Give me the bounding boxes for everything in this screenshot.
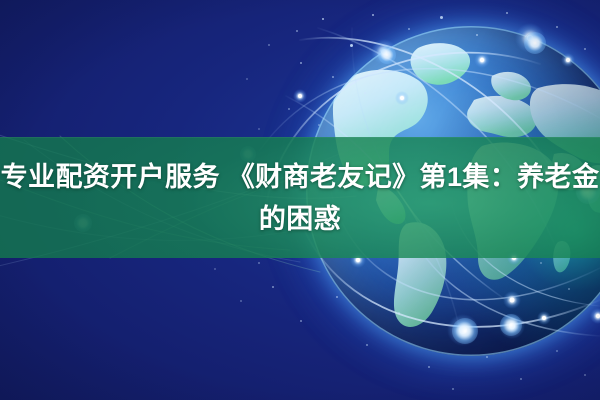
page-title: 专业配资开户服务 《财商老友记》第1集：养老金 的困惑 [0,137,600,258]
title-line-1: 专业配资开户服务 《财商老友记》第1集：养老金 [1,157,600,197]
promo-banner: 专业配资开户服务 《财商老友记》第1集：养老金 的困惑 [0,0,600,400]
title-line-2: 的困惑 [259,199,341,239]
